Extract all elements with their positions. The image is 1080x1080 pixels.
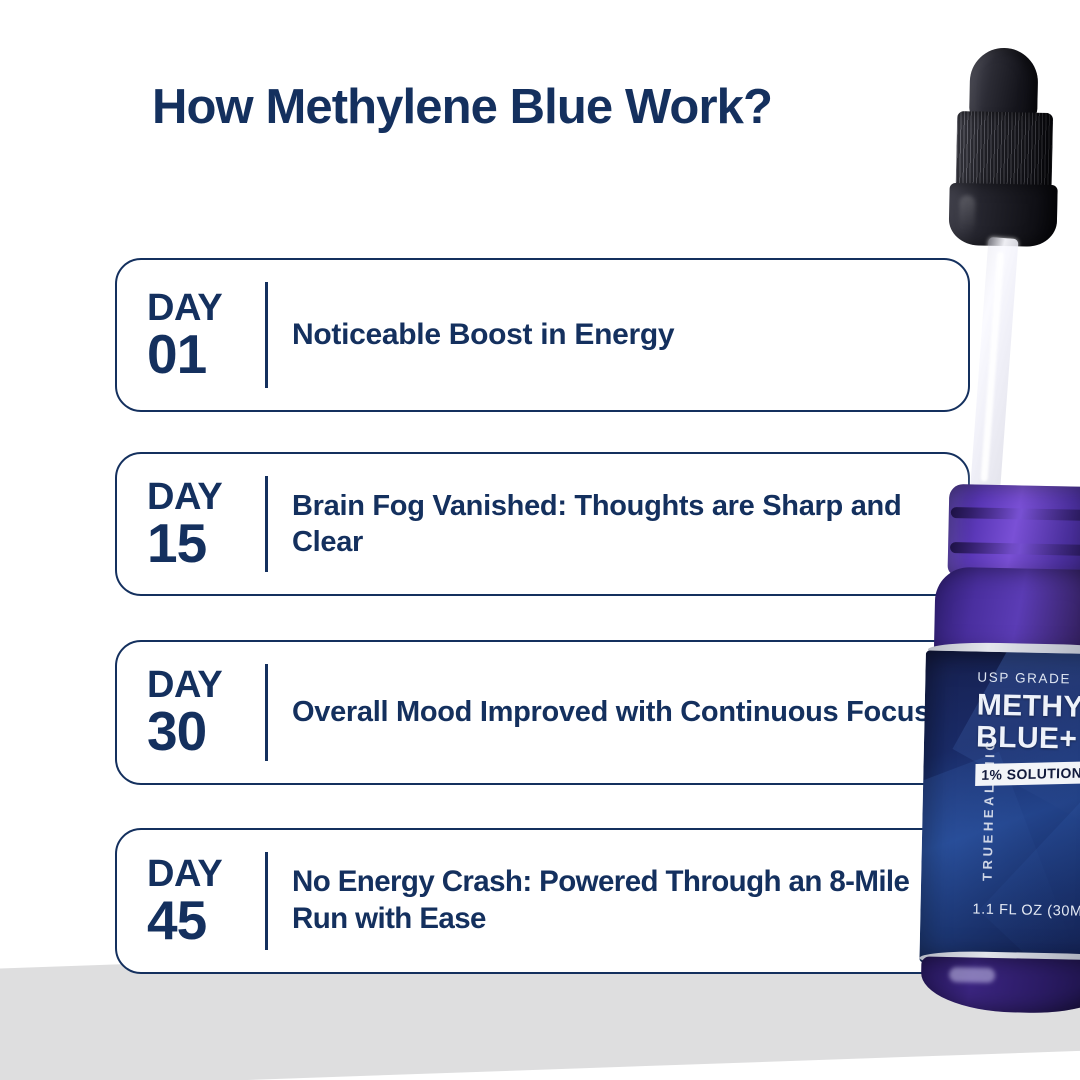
timeline-card-day-30: DAY 30 Overall Mood Improved with Contin… [115,640,970,785]
base-highlight [949,967,995,983]
bottle-neck [947,484,1080,579]
day-number: 01 [147,329,206,380]
day-badge: DAY 30 [147,668,265,757]
grade-label: USP GRADE [977,670,1080,688]
day-badge: DAY 15 [147,480,265,569]
cap-highlight [959,195,976,233]
product-label: TRUEHEALTHIC USP GRADE METHYLENE BLUE+ 1… [919,650,1080,966]
product-name-line-2: BLUE+ [976,722,1080,756]
day-badge: DAY 01 [147,291,265,380]
dropper-cap-knurled [956,111,1054,191]
timeline-card-day-01: DAY 01 Noticeable Boost in Energy [115,258,970,412]
bottle-base [920,956,1080,1014]
infographic-canvas: How Methylene Blue Work? DAY 01 Noticeab… [0,0,1080,1080]
day-label: DAY [147,480,222,515]
timeline-card-day-45: DAY 45 No Energy Crash: Powered Through … [115,828,970,974]
timeline-card-text: Brain Fog Vanished: Thoughts are Sharp a… [268,488,968,561]
day-label: DAY [147,857,222,892]
day-label: DAY [147,668,222,703]
product-name-line-1: METHYLENE [976,691,1080,725]
day-badge: DAY 45 [147,857,265,946]
solution-strength-badge: 1% SOLUTION [975,762,1080,787]
day-number: 30 [147,706,206,757]
timeline-card-text: Noticeable Boost in Energy [268,316,968,354]
volume-label: 1.1 FL OZ (30ML) [972,902,1080,921]
timeline-card-text: Overall Mood Improved with Continuous Fo… [268,694,968,730]
day-label: DAY [147,291,222,326]
timeline-card-text: No Energy Crash: Powered Through an 8-Mi… [268,864,968,938]
page-title: How Methylene Blue Work? [152,78,792,138]
product-bottle-image: TRUEHEALTHIC USP GRADE METHYLENE BLUE+ 1… [880,0,1080,1032]
timeline-card-day-15: DAY 15 Brain Fog Vanished: Thoughts are … [115,452,970,596]
day-number: 15 [147,518,206,569]
day-number: 45 [147,895,206,946]
label-text-block: USP GRADE METHYLENE BLUE+ 1% SOLUTION [975,670,1080,788]
